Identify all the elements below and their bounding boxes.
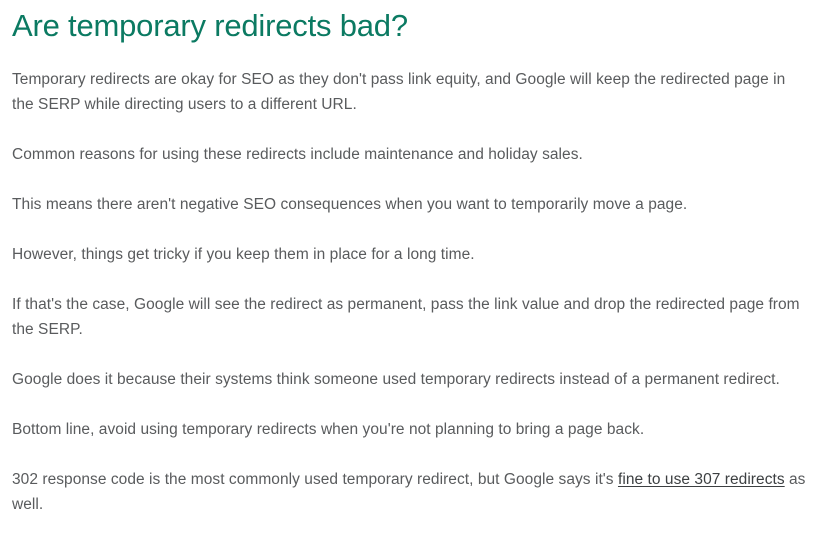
- paragraph-7: Bottom line, avoid using temporary redir…: [12, 417, 811, 442]
- paragraph-1: Temporary redirects are okay for SEO as …: [12, 67, 811, 117]
- article-body: Temporary redirects are okay for SEO as …: [12, 46, 811, 517]
- paragraph-6: Google does it because their systems thi…: [12, 367, 811, 392]
- paragraph-8-lead-text: 302 response code is the most commonly u…: [12, 471, 618, 488]
- paragraph-3: This means there aren't negative SEO con…: [12, 192, 811, 217]
- paragraph-8: 302 response code is the most commonly u…: [12, 467, 811, 517]
- paragraph-2: Common reasons for using these redirects…: [12, 142, 811, 167]
- page-title: Are temporary redirects bad?: [12, 0, 811, 46]
- paragraph-4: However, things get tricky if you keep t…: [12, 242, 811, 267]
- paragraph-5: If that's the case, Google will see the …: [12, 292, 811, 342]
- link-307-redirects[interactable]: fine to use 307 redirects: [618, 471, 785, 488]
- article-container: Are temporary redirects bad? Temporary r…: [0, 0, 823, 553]
